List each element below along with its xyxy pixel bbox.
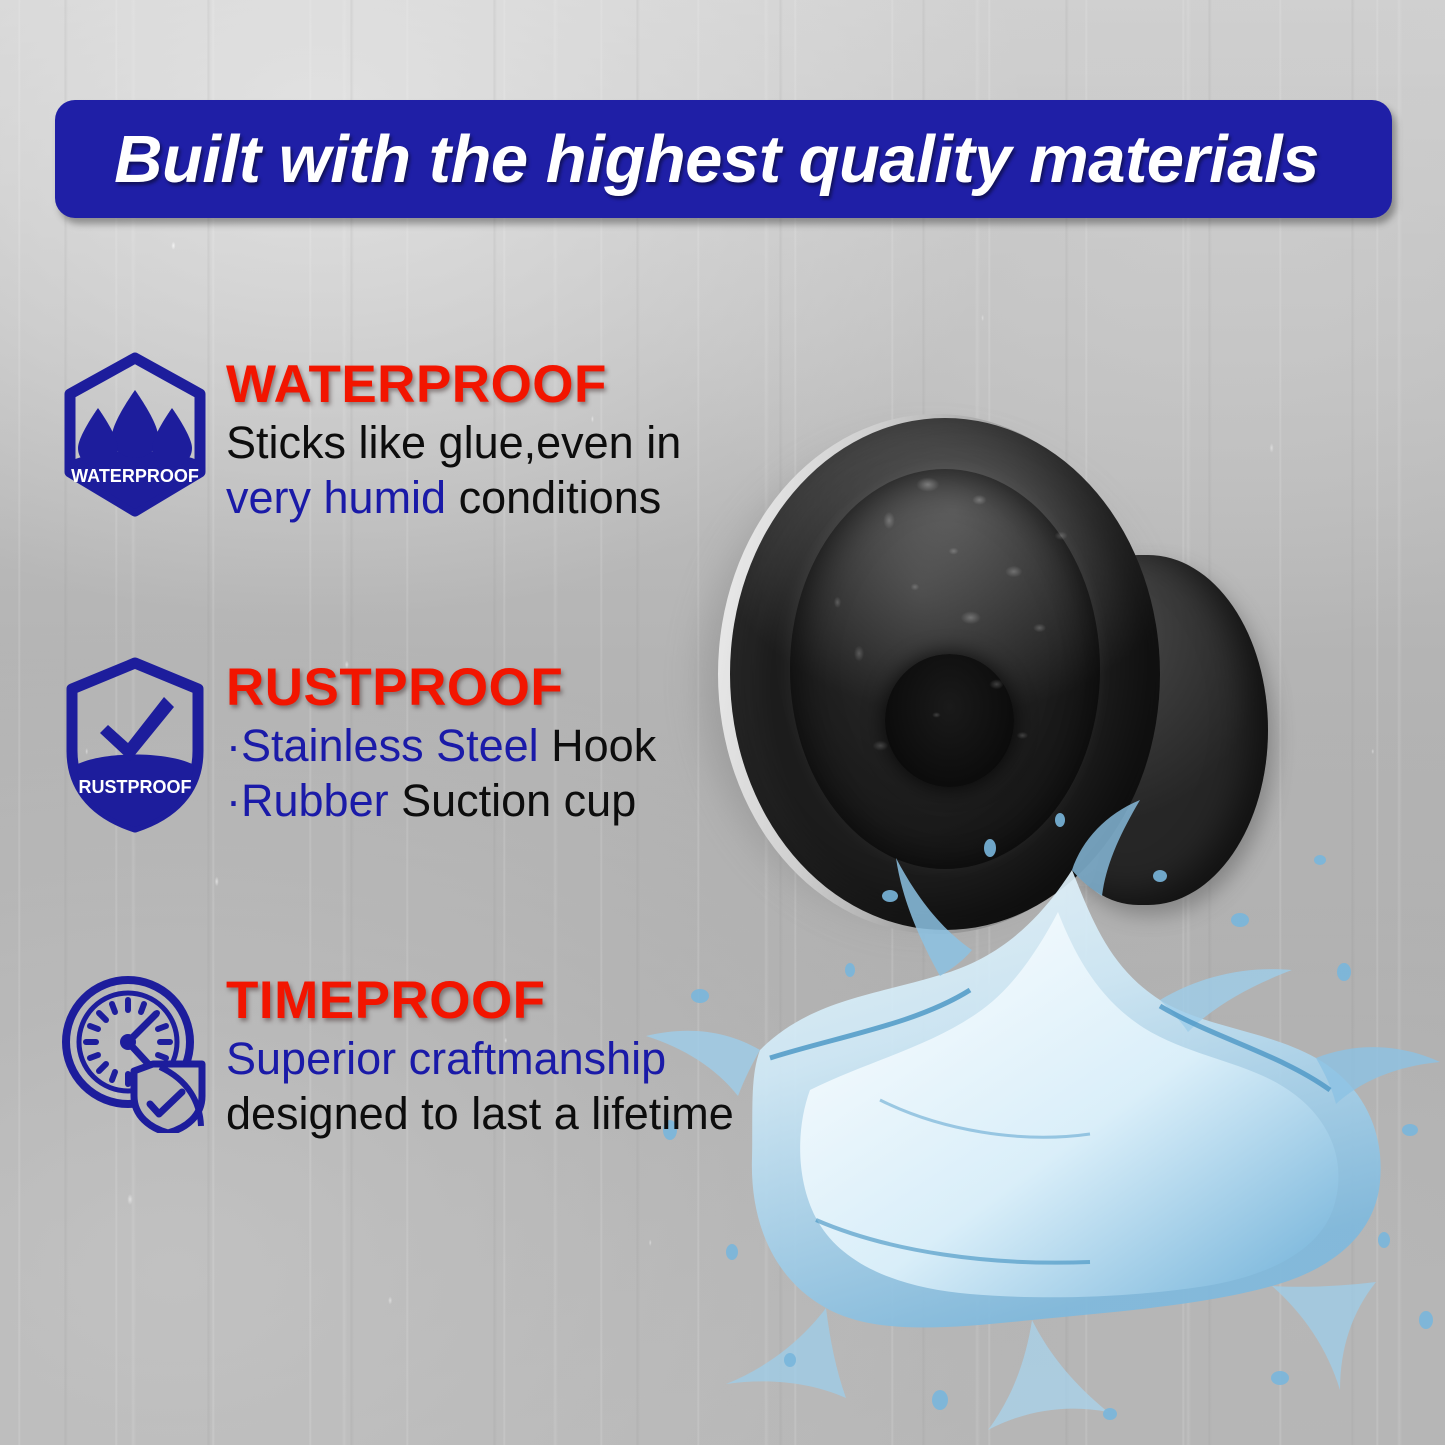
waterproof-line-1: Sticks like glue,even in — [226, 416, 681, 471]
rustproof-title: RUSTPROOF — [226, 661, 656, 715]
rustproof-line-2: ·Rubber Suction cup — [226, 774, 656, 829]
rustproof-line-1-seg-2: Hook — [551, 720, 656, 771]
waterproof-line-2-seg-2: conditions — [459, 472, 662, 523]
waterproof-line-2: very humid conditions — [226, 471, 681, 526]
rustproof-text-block: RUSTPROOF ·Stainless Steel Hook ·Rubber … — [226, 655, 656, 829]
timeproof-line-2-seg-1: designed to last a lifetime — [226, 1088, 734, 1139]
timeproof-title: TIMEPROOF — [226, 974, 734, 1028]
waterproof-line-2-seg-1: very humid — [226, 472, 459, 523]
waterproof-text-block: WATERPROOF Sticks like glue,even in very… — [226, 352, 681, 526]
headline-text: Built with the highest quality materials — [55, 126, 1392, 193]
timeproof-text-block: TIMEPROOF Superior craftmanship designed… — [226, 968, 734, 1142]
timeproof-line-1-seg-1: Superior craftmanship — [226, 1033, 666, 1084]
waterproof-hexagon-badge-icon: WATERPROOF — [60, 352, 210, 517]
feature-rustproof: RUSTPROOF RUSTPROOF ·Stainless Steel Hoo… — [60, 655, 656, 835]
timeproof-line-2: designed to last a lifetime — [226, 1087, 734, 1142]
rustproof-shield-check-badge-icon: RUSTPROOF — [60, 655, 210, 835]
timeproof-clock-shield-icon — [60, 968, 210, 1133]
rustproof-line-2-seg-2: Suction cup — [401, 775, 636, 826]
headline-banner: Built with the highest quality materials — [55, 100, 1392, 218]
rustproof-line-1-seg-1: ·Stainless Steel — [226, 720, 551, 771]
rustproof-line-2-seg-1: ·Rubber — [226, 775, 401, 826]
waterproof-line-1-seg-1: Sticks like glue,even in — [226, 417, 681, 468]
rustproof-line-1: ·Stainless Steel Hook — [226, 719, 656, 774]
waterproof-badge-label: WATERPROOF — [71, 466, 199, 486]
water-splash-icon — [640, 800, 1445, 1440]
feature-timeproof: TIMEPROOF Superior craftmanship designed… — [60, 968, 734, 1142]
timeproof-line-1: Superior craftmanship — [226, 1032, 734, 1087]
product-image — [640, 370, 1445, 1445]
rustproof-badge-label: RUSTPROOF — [78, 777, 191, 797]
feature-waterproof: WATERPROOF WATERPROOF Sticks like glue,e… — [60, 352, 681, 526]
waterproof-title: WATERPROOF — [226, 358, 681, 412]
product-infographic: Built with the highest quality materials — [0, 0, 1445, 1445]
